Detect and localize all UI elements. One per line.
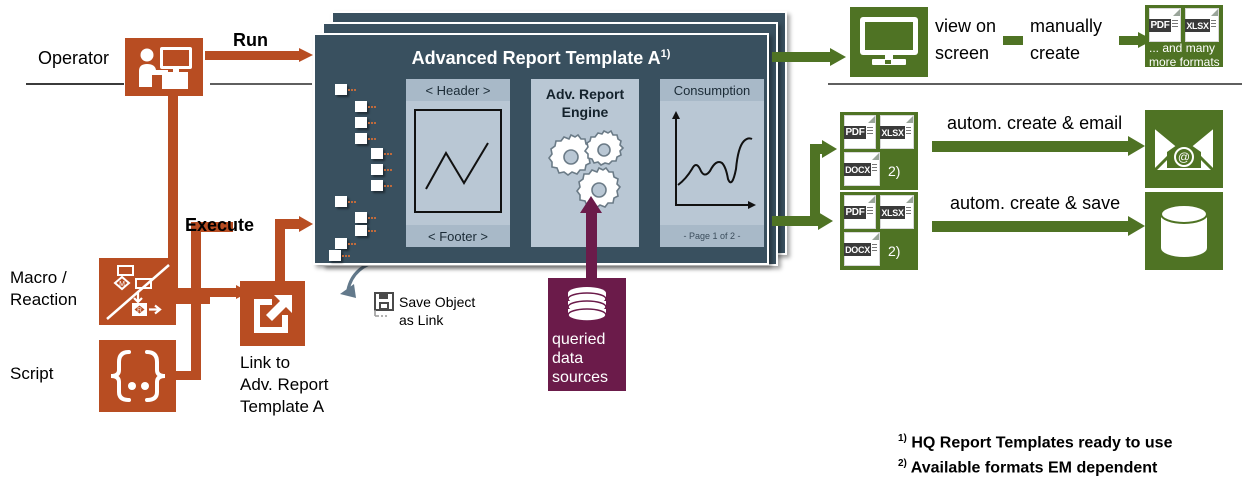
pdf-file-label: PDF (1149, 19, 1171, 32)
database-cylinder-icon (564, 286, 610, 326)
pdf-file-label: PDF (844, 126, 866, 139)
zigzag-line-chart-icon (414, 109, 502, 213)
view-on-screen-label: view on screen (935, 13, 996, 67)
svg-text:R: R (137, 307, 142, 314)
tree-node[interactable] (335, 196, 347, 207)
tree-node-dash (348, 89, 356, 91)
view-on-screen-arrow-shaft (772, 52, 834, 62)
tree-node-dash (342, 255, 350, 257)
email-files-footnote: 2) (888, 164, 900, 178)
svg-text:@: @ (1178, 150, 1190, 164)
engine-panel[interactable]: Adv. Report Engine (531, 79, 639, 247)
link-to-template-icon[interactable] (240, 281, 305, 346)
macro-out-stub (176, 288, 238, 297)
queried-data-sources-label: queried data sources (544, 330, 630, 387)
script-label: Script (10, 363, 53, 384)
link-to-template-riser (275, 219, 285, 287)
output-footer-bar: - Page 1 of 2 - (660, 225, 764, 247)
docx-file-icon: DOCX (844, 232, 880, 266)
tree-node-dash (368, 230, 376, 232)
tree-node[interactable] (355, 117, 367, 128)
footnote-1: 1) HQ Report Templates ready to use (898, 433, 1172, 452)
view-on-screen-arrow-head (830, 48, 846, 66)
execute-riser-vertical (191, 222, 201, 380)
save-arrow-shaft (932, 221, 1132, 232)
footnote-1-text: HQ Report Templates ready to use (911, 434, 1172, 451)
divider-left (26, 83, 124, 85)
manually-create-connector (1003, 36, 1023, 45)
xlsx-file-label: XLSX (880, 206, 905, 219)
save-files-tile[interactable]: PDF XLSX DOCX 2) (840, 192, 918, 270)
pdf-file-icon: PDF (844, 115, 876, 149)
tree-node-dash (368, 138, 376, 140)
footnote-2: 2) Available formats EM dependent (898, 458, 1157, 477)
xlsx-file-icon: XLSX (1185, 8, 1219, 42)
template-card-a-title: Advanced Report Template A1) (315, 48, 767, 69)
screen-formats-note: ... and many more formats (1149, 41, 1220, 69)
docx-file-icon: DOCX (844, 152, 880, 186)
pdf-file-icon: PDF (844, 195, 876, 229)
link-to-template-label: Link to Adv. Report Template A (240, 352, 329, 418)
pdf-file-label: PDF (844, 206, 866, 219)
footnote-1-marker: 1) (898, 433, 907, 444)
tree-node[interactable] (335, 238, 347, 249)
tree-node-dash (384, 169, 392, 171)
engine-panel-title: Adv. Report Engine (531, 85, 639, 121)
tree-node-dash (368, 106, 376, 108)
page-header-bar: < Header > (406, 79, 510, 101)
monitor-icon[interactable] (850, 7, 928, 77)
tree-node-dash (384, 153, 392, 155)
save-arrow-head (1128, 216, 1145, 236)
auto-branch-top-head (822, 140, 837, 158)
script-icon[interactable] (99, 340, 176, 412)
tree-node[interactable] (371, 164, 383, 175)
tree-node[interactable] (371, 180, 383, 191)
tree-node-dash (348, 243, 356, 245)
tree-node-dash (348, 201, 356, 203)
tree-node-dash (384, 185, 392, 187)
link-to-template-elbow (275, 219, 301, 229)
manually-create-label: manually create (1030, 13, 1102, 67)
tree-node[interactable] (355, 212, 367, 223)
svg-text:M: M (119, 281, 125, 288)
email-arrow-label: autom. create & email (947, 113, 1122, 134)
data-sources-arrow-shaft (586, 210, 597, 278)
xlsx-file-label: XLSX (880, 126, 905, 139)
footnote-2-text: Available formats EM dependent (911, 459, 1158, 476)
execute-label: Execute (185, 215, 254, 236)
run-label: Run (233, 30, 268, 51)
page-footer-bar: < Footer > (406, 225, 510, 247)
macro-reaction-icon[interactable]: M R (99, 258, 176, 325)
template-card-a-title-footnote: 1) (661, 48, 671, 60)
email-files-tile[interactable]: PDF XLSX DOCX 2) (840, 112, 918, 190)
tree-node[interactable] (355, 133, 367, 144)
tree-node-dash (368, 122, 376, 124)
template-card-a-title-text: Advanced Report Template A (412, 48, 661, 68)
save-files-footnote: 2) (888, 244, 900, 258)
xlsx-file-label: XLSX (1185, 19, 1210, 32)
save-as-link-label: Save Object as Link (399, 293, 475, 329)
docx-file-label: DOCX (844, 243, 871, 256)
docx-file-label: DOCX (844, 163, 871, 176)
run-arrow-shaft (205, 51, 301, 60)
tree-node[interactable] (355, 225, 367, 236)
email-arrow-head (1128, 136, 1145, 156)
output-panel[interactable]: Consumption - Page 1 of 2 - (660, 79, 764, 247)
tree-node[interactable] (329, 250, 341, 261)
divider-right (828, 83, 1242, 85)
divider-mid (210, 83, 312, 85)
wavy-line-chart-icon (666, 107, 758, 215)
xlsx-file-icon: XLSX (880, 195, 914, 229)
macro-reaction-label: Macro / Reaction (10, 267, 77, 311)
pdf-file-icon: PDF (1149, 8, 1181, 42)
email-arrow-shaft (932, 141, 1132, 152)
screen-formats-tile[interactable]: PDF XLSX ... and many more formats (1145, 5, 1223, 67)
queried-data-sources[interactable]: queried data sources (548, 278, 626, 391)
data-sources-arrow-head (580, 196, 602, 213)
template-card-a[interactable]: Advanced Report Template A1) < Header > … (313, 33, 769, 265)
email-envelope-at-icon[interactable]: @ (1145, 110, 1223, 188)
auto-branch-lower-head (818, 212, 833, 230)
tree-node-dash (368, 217, 376, 219)
footnote-2-marker: 2) (898, 458, 907, 469)
xlsx-file-icon: XLSX (880, 115, 914, 149)
tree-node[interactable] (355, 101, 367, 112)
tree-node[interactable] (335, 84, 347, 95)
run-arrow-head (299, 48, 313, 62)
link-to-template-arrowhead (299, 216, 313, 232)
tree-node[interactable] (371, 148, 383, 159)
output-header-bar: Consumption (660, 79, 764, 101)
save-arrow-label: autom. create & save (950, 193, 1120, 214)
operator-icon[interactable] (125, 38, 203, 96)
operator-label: Operator (38, 48, 109, 69)
page-template-panel[interactable]: < Header > < Footer > (406, 79, 510, 247)
floppy-disk-save-icon (374, 292, 398, 318)
save-database-icon[interactable] (1145, 192, 1223, 270)
